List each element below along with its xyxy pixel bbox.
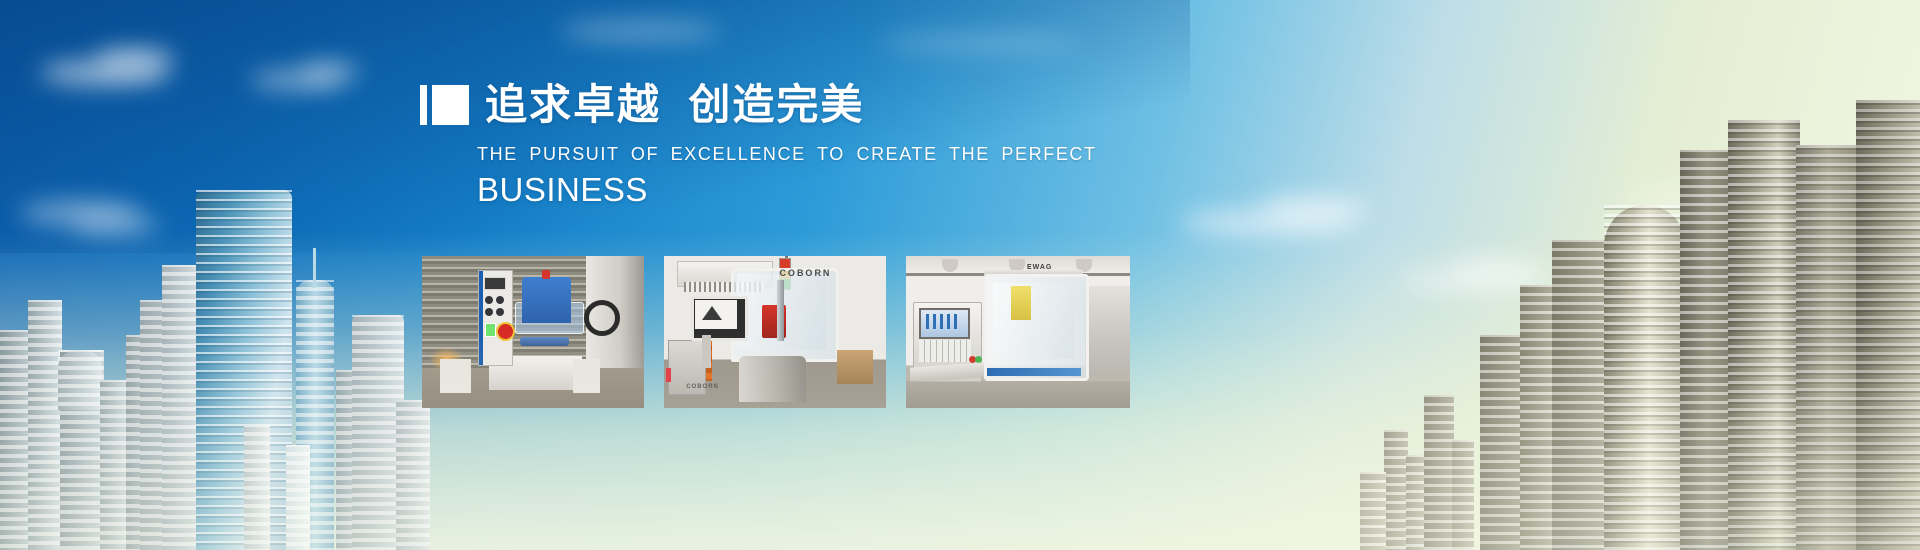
machine-photo-strip: COBORN COBORN — [422, 256, 1130, 408]
photo2-brand-label-secondary: COBORN — [686, 384, 719, 390]
photo-surface-grinder[interactable] — [422, 256, 644, 408]
tagline-business: BUSINESS — [477, 171, 1220, 209]
photo-cnc-console[interactable]: EWAG — [906, 256, 1130, 408]
cityscape-left — [0, 120, 430, 550]
headline-chinese: 追求卓越 创造完美 — [485, 84, 864, 126]
photo2-brand-label: COBORN — [779, 268, 831, 278]
photo3-brand-label: EWAG — [1027, 264, 1052, 271]
hero-banner: 追求卓越 创造完美 THE PURSUIT OF EXCELLENCE TO C… — [0, 0, 1920, 550]
title-row: 追求卓越 创造完美 — [420, 84, 1220, 126]
headline-block: 追求卓越 创造完美 THE PURSUIT OF EXCELLENCE TO C… — [420, 84, 1220, 209]
subtitle-english: THE PURSUIT OF EXCELLENCE TO CREATE THE … — [477, 144, 1220, 165]
cityscape-right — [1360, 80, 1920, 550]
photo-coborn-machine[interactable]: COBORN COBORN — [664, 256, 886, 408]
company-logo-mark-icon — [420, 85, 469, 125]
